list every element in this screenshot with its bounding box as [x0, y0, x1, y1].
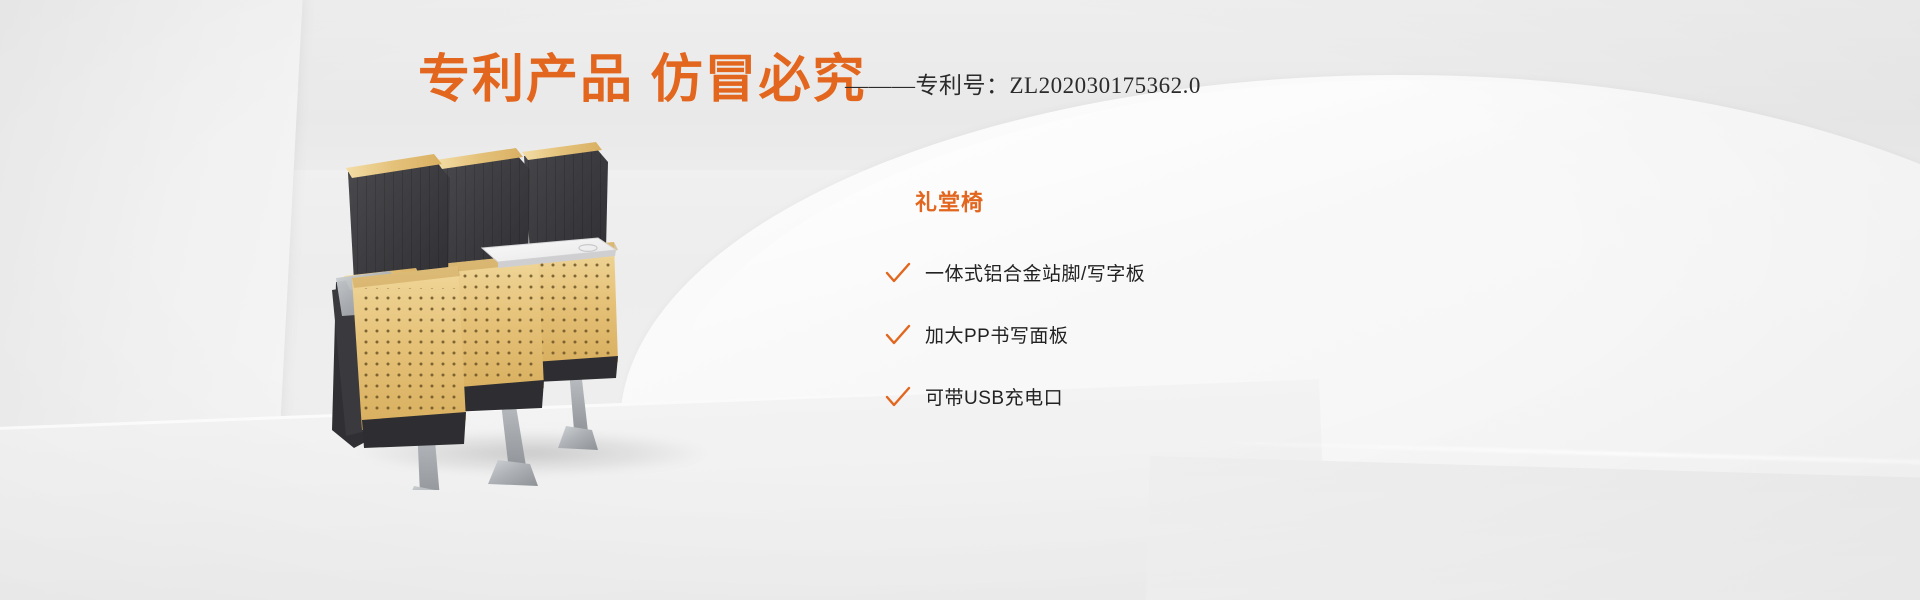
promo-banner: 专利产品 仿冒必究 ———专利号：ZL202030175362.0	[0, 0, 1920, 600]
headline-patent-product: 专利产品 仿冒必究	[418, 50, 866, 110]
check-icon	[885, 262, 911, 284]
auditorium-chair-illustration	[330, 130, 790, 490]
feature-label: 可带USB充电口	[925, 383, 1063, 410]
feature-item-1: 一体式铝合金站脚/写字板	[885, 259, 1305, 286]
check-icon	[885, 324, 911, 346]
chair-1	[332, 154, 466, 490]
feature-label: 加大PP书写面板	[925, 321, 1068, 348]
feature-item-3: 可带USB充电口	[885, 383, 1305, 410]
product-image-auditorium-chairs	[330, 130, 790, 490]
feature-label: 一体式铝合金站脚/写字板	[925, 259, 1145, 286]
product-feature-panel: 礼堂椅 一体式铝合金站脚/写字板 加大PP书写面板 可带USB充电口	[885, 185, 1305, 445]
product-title: 礼堂椅	[915, 185, 1305, 217]
feature-item-2: 加大PP书写面板	[885, 321, 1305, 348]
patent-number-label: ———专利号：ZL202030175362.0	[845, 72, 1201, 100]
check-icon	[885, 386, 911, 408]
